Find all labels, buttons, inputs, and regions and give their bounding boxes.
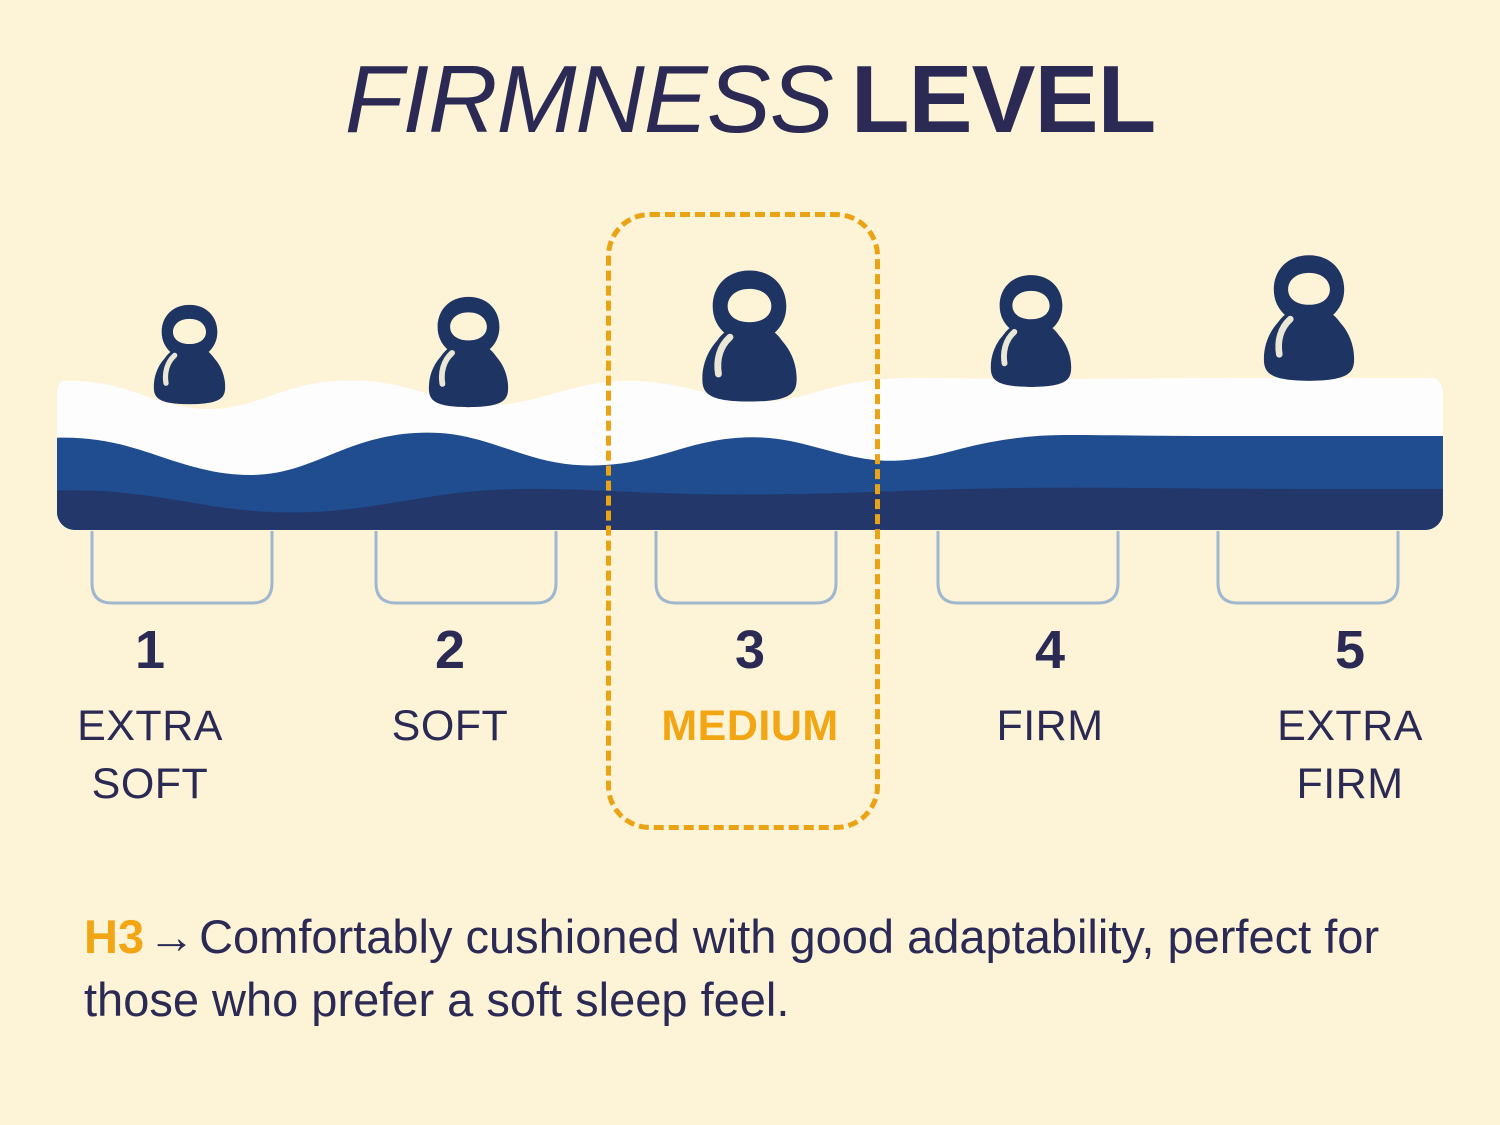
scale-item-2[interactable]: 2 SOFT bbox=[300, 622, 600, 852]
scale-item-1[interactable]: 1 EXTRA SOFT bbox=[0, 622, 300, 852]
scale-number-4: 4 bbox=[900, 622, 1200, 679]
kettlebell-icon-4 bbox=[991, 275, 1071, 387]
kettlebell-icon-5 bbox=[1264, 255, 1354, 380]
firmness-scale-labels: 1 EXTRA SOFT 2 SOFT 3 MEDIUM 4 FIRM 5 EX… bbox=[0, 622, 1500, 852]
title-firmness: FIRMNESS bbox=[345, 46, 833, 153]
scale-number-5: 5 bbox=[1200, 622, 1500, 679]
scale-number-1: 1 bbox=[0, 622, 300, 679]
description-tag: H3 bbox=[84, 910, 144, 963]
scale-name-2: SOFT bbox=[300, 697, 600, 755]
description-body: Comfortably cushioned with good adaptabi… bbox=[84, 910, 1379, 1026]
arrow-icon: → bbox=[144, 910, 199, 963]
mattress-illustration bbox=[0, 195, 1500, 635]
scale-item-4[interactable]: 4 FIRM bbox=[900, 622, 1200, 852]
scale-item-3[interactable]: 3 MEDIUM bbox=[600, 622, 900, 852]
scale-number-2: 2 bbox=[300, 622, 600, 679]
kettlebell-icon-2 bbox=[429, 297, 508, 407]
scale-name-3: MEDIUM bbox=[600, 697, 900, 755]
scale-name-4: FIRM bbox=[900, 697, 1200, 755]
kettlebell-icon-3 bbox=[702, 270, 796, 401]
description-text: H3→Comfortably cushioned with good adapt… bbox=[84, 905, 1424, 1032]
scale-item-5[interactable]: 5 EXTRA FIRM bbox=[1200, 622, 1500, 852]
title-level: LEVEL bbox=[851, 46, 1155, 153]
page-title: FIRMNESSLEVEL bbox=[0, 52, 1500, 148]
scale-name-5: EXTRA FIRM bbox=[1200, 697, 1500, 813]
infographic-root: FIRMNESSLEVEL bbox=[0, 0, 1500, 1125]
kettlebell-icon-1 bbox=[154, 305, 225, 404]
scale-number-3: 3 bbox=[600, 622, 900, 679]
segment-markers bbox=[92, 531, 1398, 603]
scale-name-1: EXTRA SOFT bbox=[0, 697, 300, 813]
